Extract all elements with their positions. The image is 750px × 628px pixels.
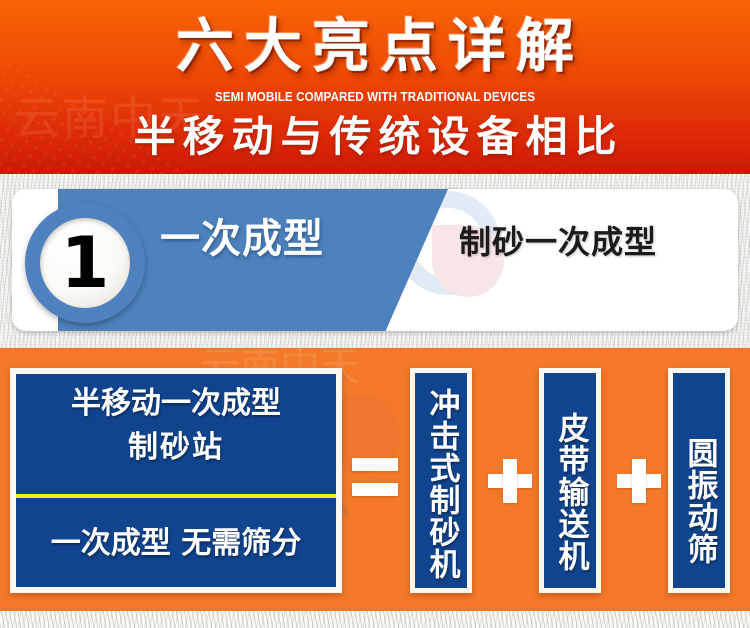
promo-banner-page: 云南中天 六大亮点详解 SEMI MOBILE COMPARED WITH TR…: [0, 0, 750, 628]
feature-number-badge: 1: [25, 203, 145, 323]
formula-panel-title-line2: 制砂站: [16, 426, 336, 470]
page-title: 六大亮点详解: [0, 12, 750, 80]
feature-banner-label: 一次成型: [160, 215, 420, 263]
page-subtitle-chinese: 半移动与传统设备相比: [0, 110, 750, 164]
plus-bar-vertical: [632, 459, 646, 503]
footer-texture-strip: [0, 611, 750, 628]
header-section: 云南中天 六大亮点详解 SEMI MOBILE COMPARED WITH TR…: [0, 0, 750, 174]
badge-number: 1: [40, 218, 130, 308]
equals-bar-top: [352, 458, 398, 471]
formula-panel-title-line1: 半移动一次成型: [16, 382, 336, 426]
equals-bar-bottom: [352, 483, 398, 496]
formula-panel-title: 半移动一次成型 制砂站: [16, 382, 336, 470]
page-subtitle-english: SEMI MOBILE COMPARED WITH TRADITIONAL DE…: [26, 90, 724, 104]
formula-item-box-1: 冲击式制砂机: [410, 368, 472, 593]
plus-operator-icon-2: [617, 459, 661, 503]
badge-inner-circle: 1: [40, 218, 130, 308]
formula-panel-subtitle: 一次成型 无需筛分: [16, 524, 336, 564]
formula-item-label-2: 皮带输送机: [544, 373, 596, 588]
plus-operator-icon-1: [488, 459, 532, 503]
formula-item-label-3: 圆振动筛: [673, 373, 725, 588]
panel-divider: [16, 494, 336, 498]
formula-item-box-2: 皮带输送机: [539, 368, 601, 593]
plus-bar-vertical: [503, 459, 517, 503]
equals-operator-icon: [352, 456, 398, 504]
formula-main-panel: 半移动一次成型 制砂站 一次成型 无需筛分: [10, 368, 342, 593]
feature-description: 制砂一次成型: [459, 222, 657, 262]
paper-texture: [0, 611, 750, 628]
formula-item-box-3: 圆振动筛: [668, 368, 730, 593]
formula-item-label-1: 冲击式制砂机: [415, 373, 467, 588]
